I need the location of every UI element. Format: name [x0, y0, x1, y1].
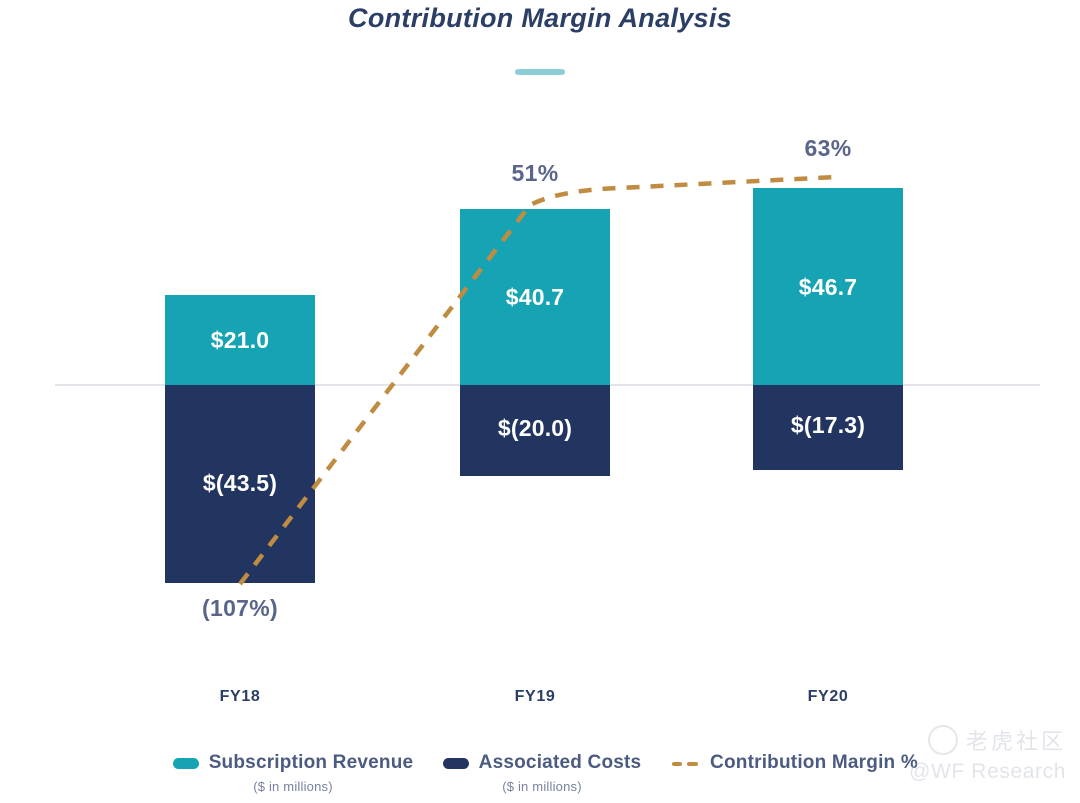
bar-revenue-label-fy20: $46.7 — [753, 274, 903, 301]
chart-page: Contribution Margin Analysis $21.0 $(43.… — [0, 0, 1080, 803]
plot-area: $21.0 $(43.5) (107%) $40.7 $(20.0) 51% $… — [0, 0, 1080, 680]
legend-swatch-margin-line — [672, 758, 700, 769]
bar-group-fy19: $40.7 $(20.0) 51% — [460, 0, 610, 680]
xtick-fy20: FY20 — [748, 688, 908, 706]
margin-label-fy18: (107%) — [155, 595, 325, 622]
legend-sub-costs: ($ in millions) — [502, 779, 582, 794]
xtick-fy19: FY19 — [455, 688, 615, 706]
xtick-fy18: FY18 — [160, 688, 320, 706]
margin-label-fy19: 51% — [450, 160, 620, 187]
legend-label-revenue: Subscription Revenue — [209, 752, 414, 774]
bar-revenue-fy19[interactable]: $40.7 — [460, 209, 610, 385]
bar-revenue-label-fy19: $40.7 — [460, 284, 610, 311]
legend-label-costs: Associated Costs — [479, 752, 642, 774]
bar-cost-label-fy19: $(20.0) — [460, 415, 610, 442]
legend-sub-revenue: ($ in millions) — [253, 779, 333, 794]
bar-revenue-fy20[interactable]: $46.7 — [753, 188, 903, 385]
legend-swatch-revenue — [173, 758, 199, 769]
margin-label-fy20: 63% — [743, 135, 913, 162]
bar-cost-fy20[interactable]: $(17.3) — [753, 385, 903, 470]
bar-cost-fy19[interactable]: $(20.0) — [460, 385, 610, 476]
bar-group-fy20: $46.7 $(17.3) 63% — [753, 0, 903, 680]
legend-item-subscription-revenue[interactable]: Subscription Revenue ($ in millions) — [168, 752, 418, 794]
bar-revenue-fy18[interactable]: $21.0 — [165, 295, 315, 385]
legend-swatch-costs — [443, 758, 469, 769]
legend-label-margin: Contribution Margin % — [710, 752, 918, 774]
bar-cost-label-fy18: $(43.5) — [165, 470, 315, 497]
tiger-logo-icon — [928, 725, 958, 755]
chart-legend: Subscription Revenue ($ in millions) Ass… — [0, 752, 1080, 803]
legend-item-contribution-margin[interactable]: Contribution Margin % — [660, 752, 930, 774]
bar-group-fy18: $21.0 $(43.5) (107%) — [165, 0, 315, 680]
bar-cost-fy18[interactable]: $(43.5) — [165, 385, 315, 583]
legend-item-associated-costs[interactable]: Associated Costs ($ in millions) — [432, 752, 652, 794]
bar-cost-label-fy20: $(17.3) — [753, 412, 903, 439]
bar-revenue-label-fy18: $21.0 — [165, 327, 315, 354]
